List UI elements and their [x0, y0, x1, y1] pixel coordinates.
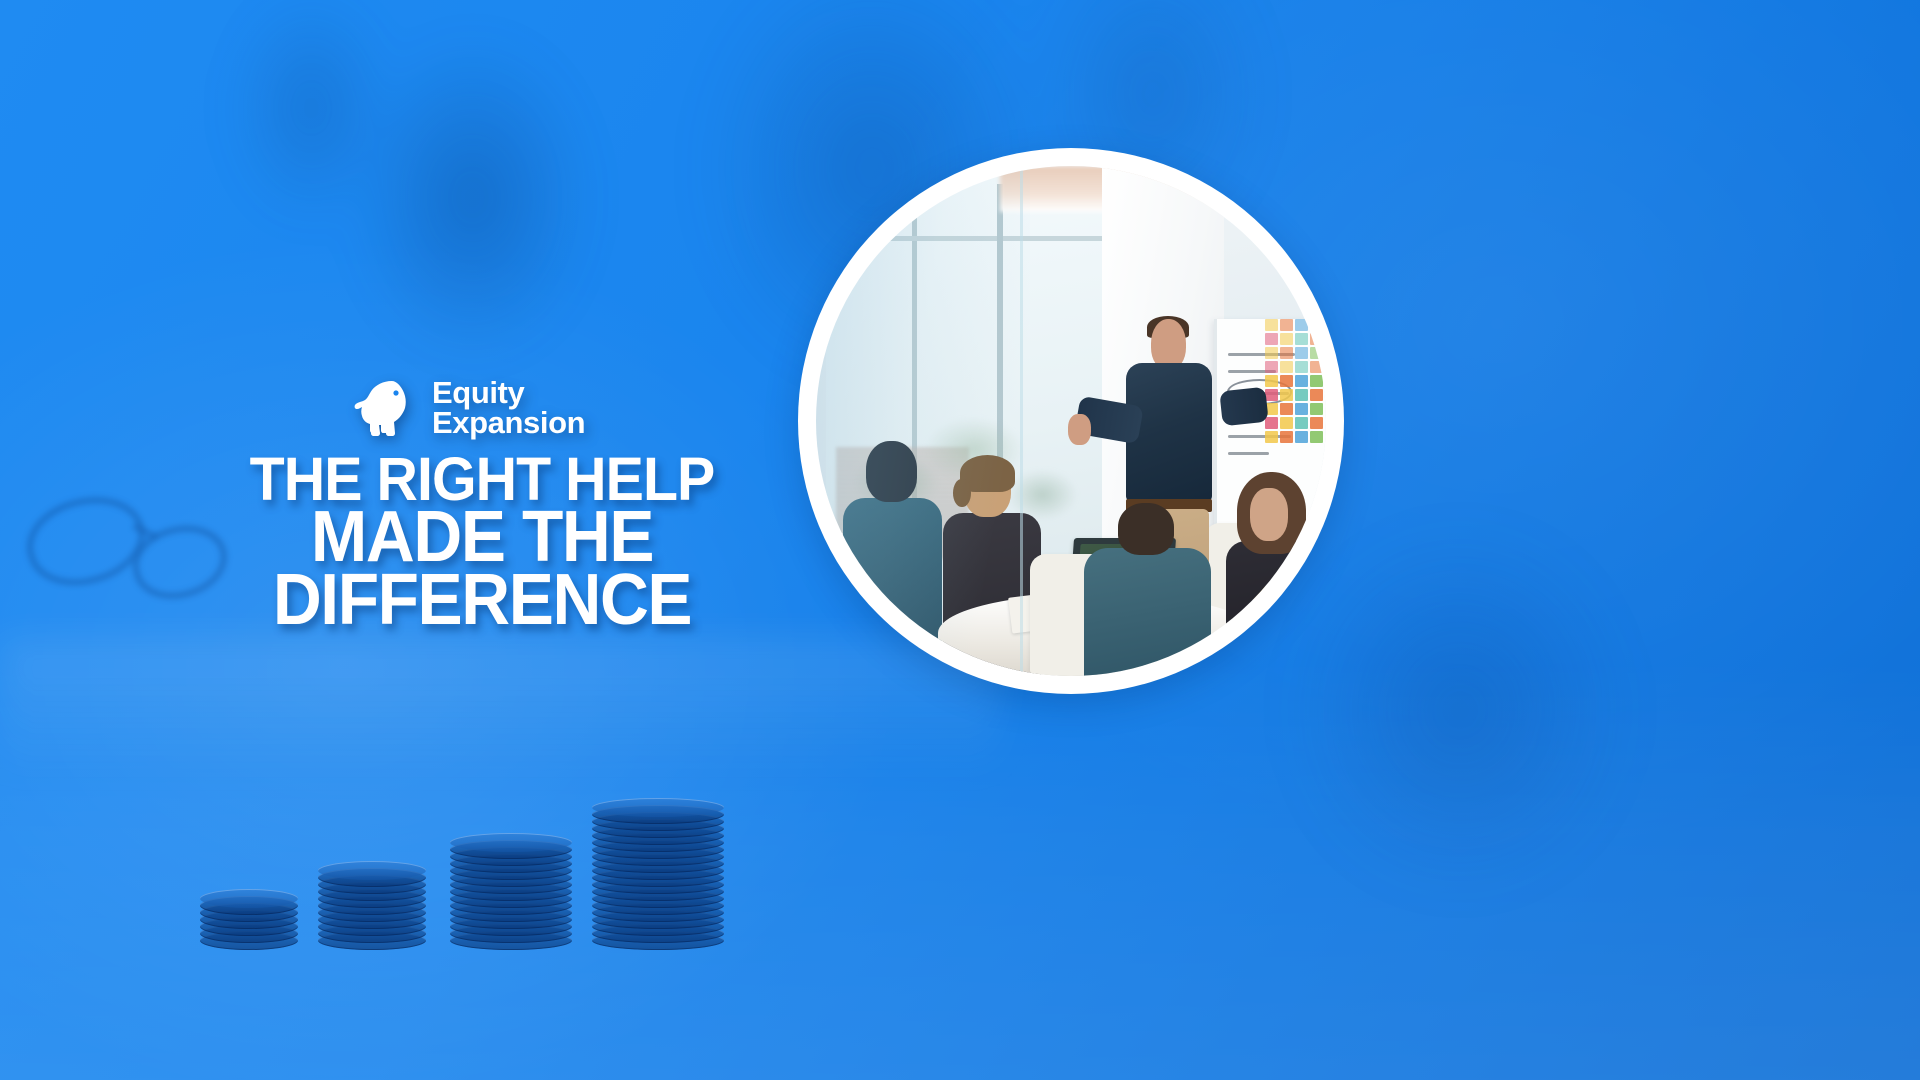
marketing-banner: Equity Expansion THE RIGHT HELP MADE THE…: [0, 0, 1920, 1080]
brand-name-line1: Equity: [432, 378, 585, 408]
sticky-notes: [1265, 319, 1326, 472]
seated-person-1: [836, 441, 948, 676]
seated-person-3: [1081, 503, 1214, 676]
brand-logo[interactable]: Equity Expansion: [352, 378, 585, 438]
glass-partition-edge: [1020, 166, 1023, 676]
content-column: Equity Expansion THE RIGHT HELP MADE THE…: [0, 0, 800, 1080]
circular-photo-frame: [798, 148, 1344, 694]
headline-line-3: DIFFERENCE: [238, 568, 727, 633]
headline: THE RIGHT HELP MADE THE DIFFERENCE: [222, 452, 742, 632]
business-meeting-photo: [816, 166, 1326, 676]
brand-wordmark: Equity Expansion: [432, 378, 585, 438]
brand-name-line2: Expansion: [432, 408, 585, 438]
elephant-icon: [352, 379, 420, 437]
seated-person-4: [1219, 472, 1326, 676]
